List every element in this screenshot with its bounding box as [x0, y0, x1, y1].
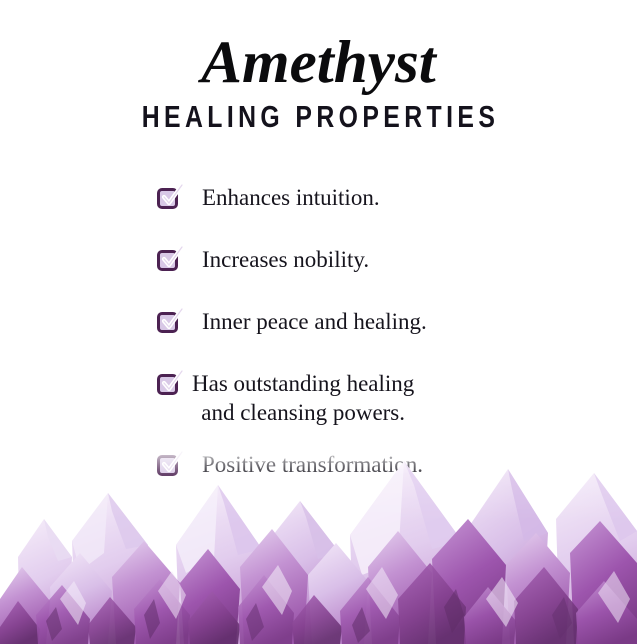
list-item: Increases nobility. — [0, 245, 637, 274]
list-item-label: Enhances intuition. — [178, 183, 380, 212]
list-item-label: Has outstanding healing and cleansing po… — [178, 369, 414, 427]
list-item-label: Inner peace and healing. — [178, 307, 427, 336]
checkbox-checked-icon — [157, 188, 178, 209]
list-item: Has outstanding healing and cleansing po… — [0, 369, 637, 427]
checkbox-checked-icon — [157, 312, 178, 333]
list-item-label: Increases nobility. — [178, 245, 369, 274]
checkbox-checked-icon — [157, 374, 178, 395]
page-subtitle: HEALING PROPERTIES — [64, 100, 574, 134]
checkbox-checked-icon — [157, 250, 178, 271]
page-title: Amethyst — [0, 28, 637, 96]
amethyst-crystal-cluster-photo — [0, 449, 637, 644]
infographic-root: Amethyst HEALING PROPERTIES Enhances int… — [0, 0, 637, 644]
header: Amethyst HEALING PROPERTIES — [0, 28, 637, 134]
properties-list: Enhances intuition. Increases nobility. — [0, 183, 637, 479]
list-item: Inner peace and healing. — [0, 307, 637, 336]
list-item: Enhances intuition. — [0, 183, 637, 212]
